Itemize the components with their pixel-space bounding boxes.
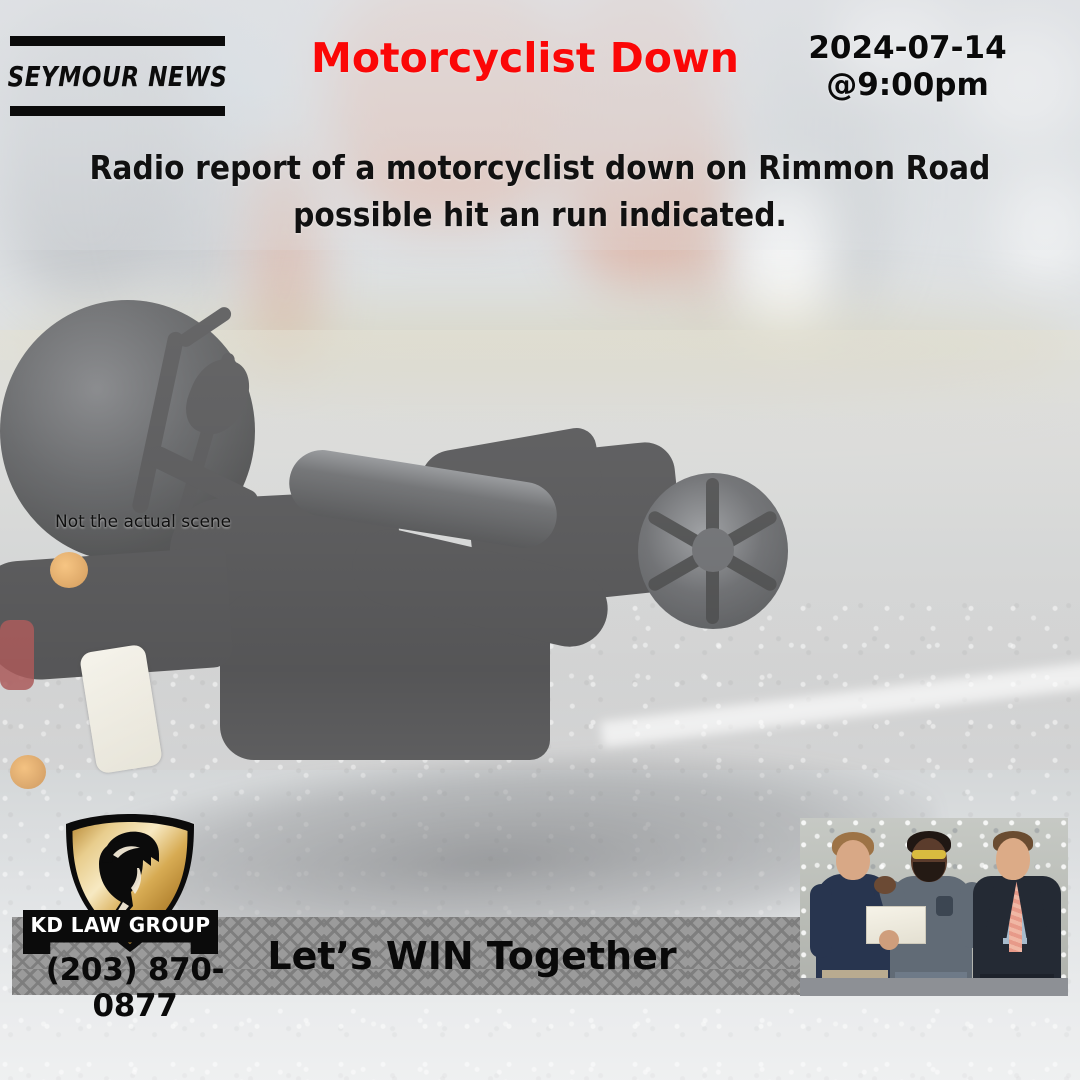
report-time: @9:00pm bbox=[800, 67, 1015, 104]
photo-foreground-counter bbox=[800, 978, 1068, 996]
photo-disclaimer: Not the actual scene bbox=[55, 512, 231, 532]
sponsor-team-photo bbox=[800, 818, 1068, 996]
badge-rule-bottom bbox=[10, 106, 225, 116]
page-title: Motorcyclist Down bbox=[270, 36, 780, 81]
badge-rule-top bbox=[10, 36, 225, 46]
person-head bbox=[996, 838, 1030, 880]
person-hand bbox=[874, 876, 896, 894]
sponsor-phone[interactable]: (203) 870-0877 bbox=[15, 952, 255, 1024]
report-summary: Radio report of a motorcyclist down on R… bbox=[60, 145, 1020, 239]
outlet-name: SEYMOUR NEWS bbox=[19, 50, 217, 102]
sunglasses-icon bbox=[912, 850, 946, 859]
news-graphic-poster: SEYMOUR NEWS Motorcyclist Down 2024-07-1… bbox=[0, 0, 1080, 1080]
sponsor-name: KD LAW GROUP bbox=[31, 910, 211, 941]
timestamp-block: 2024-07-14 @9:00pm bbox=[800, 30, 1015, 103]
person-arm bbox=[810, 884, 832, 958]
person-head bbox=[836, 840, 870, 880]
shirt-emblem-icon bbox=[936, 896, 953, 916]
sponsor-logo[interactable]: KD LAW GROUP (203) 870-0877 bbox=[45, 810, 215, 1000]
report-date: 2024-07-14 bbox=[800, 30, 1015, 67]
person-hand bbox=[879, 930, 899, 950]
outlet-badge: SEYMOUR NEWS bbox=[10, 36, 225, 116]
